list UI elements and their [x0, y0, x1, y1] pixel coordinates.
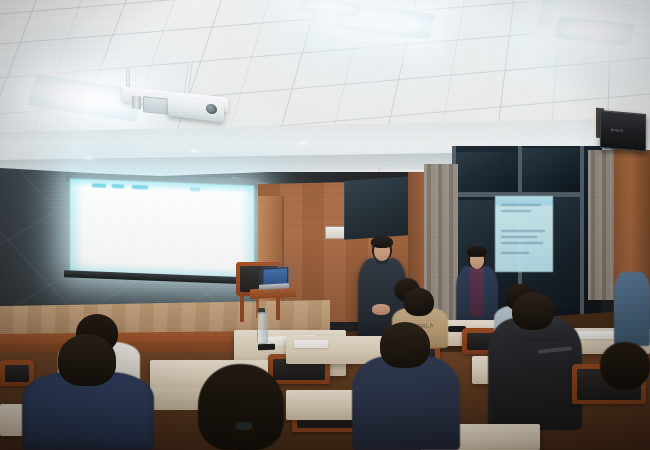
phone-on-podium — [258, 344, 275, 351]
screen-artifact-2 — [112, 184, 124, 188]
attendee-beige-jacket-head — [404, 288, 434, 316]
speaker-brand-label: bosch — [611, 127, 623, 133]
presenter-left-hair — [371, 236, 393, 248]
projection-screen — [70, 178, 254, 279]
window-reflection — [495, 196, 553, 272]
water-bottle — [257, 312, 268, 344]
projector-lens — [206, 103, 217, 114]
hair-band — [236, 422, 252, 430]
attendee-center-suit-head — [380, 322, 430, 368]
wall-speaker-icon: bosch — [600, 110, 646, 152]
attendee-center-suit — [352, 356, 460, 450]
eyeglasses-icon — [469, 256, 485, 261]
attendee-front-left-head — [58, 334, 116, 386]
glass-pane-top-left — [456, 152, 518, 194]
downlight-3 — [296, 140, 309, 146]
paper-on-desk-center — [294, 340, 328, 348]
downlight-2 — [188, 148, 201, 154]
attendee-right-edge — [600, 342, 650, 390]
screen-artifact-1 — [92, 183, 106, 188]
presenter-left-hands — [372, 304, 390, 315]
glass-pane-top-right — [522, 148, 580, 192]
center-glass-panel — [344, 176, 412, 240]
screen-artifact-3 — [132, 185, 148, 190]
window-mullion-3 — [580, 146, 584, 326]
chair-back-left-far — [0, 360, 34, 386]
attendee-black-hoodie-head — [512, 292, 554, 330]
conference-room-photo: bosch — [0, 0, 650, 450]
presenter-right-shirt — [470, 268, 484, 316]
attendee-far-right-blue — [614, 272, 650, 346]
projector-vent — [132, 96, 141, 110]
downlight-1 — [82, 155, 95, 161]
screen-artifact-4 — [190, 187, 200, 191]
